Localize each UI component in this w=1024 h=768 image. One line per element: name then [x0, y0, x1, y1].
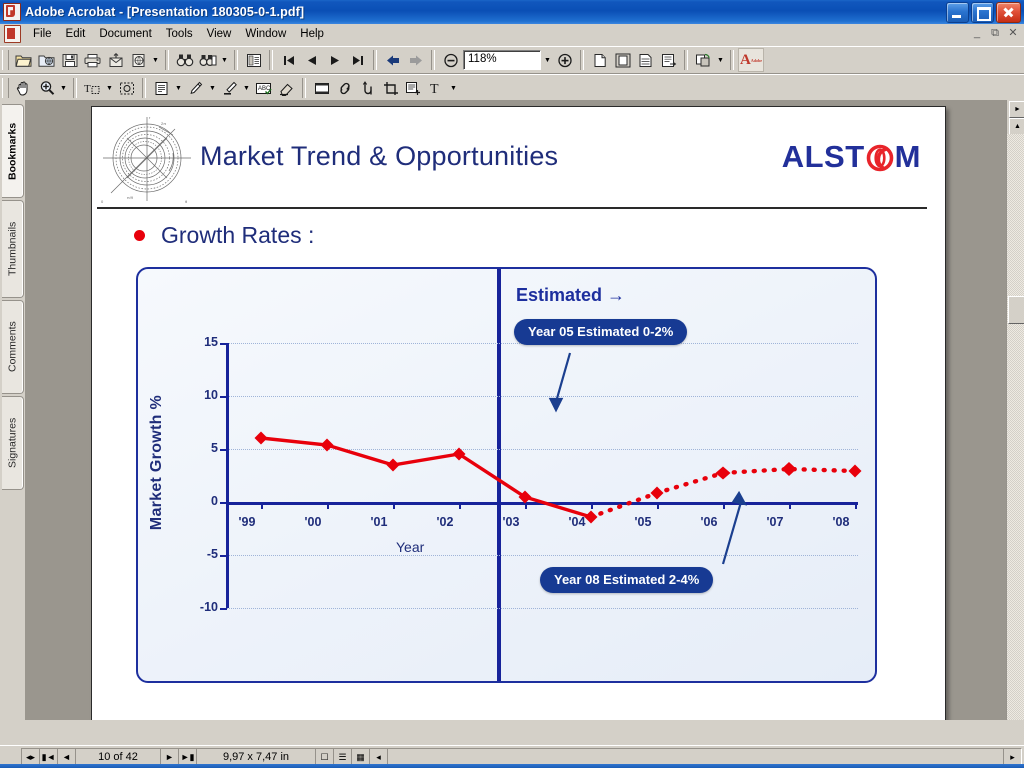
toolbar-separator [684, 50, 688, 70]
note-tool-button[interactable] [150, 77, 173, 99]
gridline-5 [226, 449, 858, 450]
sidebar-tab-signatures[interactable]: Signatures [2, 396, 24, 490]
save-button[interactable] [58, 49, 81, 71]
eraser-tool-button[interactable] [275, 77, 298, 99]
search-dropdown-icon[interactable]: ▼ [219, 49, 230, 71]
menu-item-window[interactable]: Window [238, 26, 293, 42]
zoom-in-button[interactable] [553, 49, 576, 71]
toolbar-separator [302, 78, 306, 98]
toolbar-separator [165, 50, 169, 70]
y-tick-label-10: 10 [204, 388, 218, 402]
adobe-logo-icon[interactable]: AAdobe [738, 48, 764, 72]
y-tick-label-5: 5 [211, 441, 218, 455]
zoom-tool-button[interactable] [35, 77, 58, 99]
movie-tool-button[interactable] [310, 77, 333, 99]
x-tick-label-08: '08 [833, 515, 850, 529]
x-tick-01 [393, 502, 395, 509]
print-button[interactable] [81, 49, 104, 71]
text-select-tool-button[interactable]: T [81, 77, 104, 99]
form-tool-button[interactable] [402, 77, 425, 99]
x-tick-04 [591, 502, 593, 509]
window-close-button[interactable] [996, 2, 1021, 23]
x-tick-label-99: '99 [239, 515, 256, 529]
growth-rates-chart: Estimated → Market Growth % [136, 267, 877, 683]
primary-toolbar: ▼ ▼ [0, 46, 1024, 74]
last-page-button[interactable] [346, 49, 369, 71]
show-hide-navigation-button[interactable] [242, 49, 265, 71]
zoom-level-input[interactable]: 118% [463, 50, 541, 70]
x-tick-05 [657, 502, 659, 509]
svg-text:2π: 2π [161, 121, 166, 126]
menu-item-file[interactable]: File [26, 26, 59, 42]
go-back-button[interactable] [381, 49, 404, 71]
link-tool-button[interactable] [333, 77, 356, 99]
x-tick-label-07: '07 [767, 515, 784, 529]
alstom-logo: ALSTM [782, 139, 921, 175]
next-page-button[interactable] [323, 49, 346, 71]
toolbar-grip[interactable] [2, 78, 9, 98]
bullet-dot-icon [134, 230, 145, 241]
hand-tool-button[interactable] [12, 77, 35, 99]
acrobat-window: Adobe Acrobat - [Presentation 180305-0-1… [0, 0, 1024, 768]
fit-width-button[interactable] [634, 49, 657, 71]
zoom-dropdown-icon[interactable]: ▼ [542, 49, 553, 71]
decorative-circles-diagram: 2π π/9 0 r θ [97, 113, 197, 205]
x-tick-08 [855, 502, 857, 509]
y-tick-15 [220, 343, 227, 345]
mdi-window-controls: _ ⧉ ✕ [970, 26, 1020, 40]
x-tick-06 [723, 502, 725, 509]
pencil-tool-button[interactable] [184, 77, 207, 99]
toolbar-separator [580, 50, 584, 70]
estimated-header-label: Estimated → [516, 285, 625, 306]
y-axis-title: Market Growth % [148, 395, 166, 530]
alstom-logo-swirl-icon [865, 141, 895, 173]
toolbar-grip[interactable] [2, 50, 9, 70]
scroll-up-button[interactable]: ▲ [1009, 118, 1024, 135]
window-minimize-button[interactable] [946, 2, 969, 23]
menu-bar: File Edit Document Tools View Window Hel… [0, 24, 1024, 45]
x-tick-label-05: '05 [635, 515, 652, 529]
y-axis-line [226, 343, 229, 608]
x-tick-label-01: '01 [371, 515, 388, 529]
pencil-dropdown-icon[interactable]: ▼ [207, 77, 218, 99]
email-button[interactable] [104, 49, 127, 71]
y-tick-minus10 [220, 608, 227, 610]
toolbar-separator [373, 50, 377, 70]
open-web-page-button[interactable] [35, 49, 58, 71]
svg-text:θ: θ [185, 199, 188, 204]
toolbar-separator [730, 50, 734, 70]
gridline-10 [226, 396, 858, 397]
window-title: Adobe Acrobat - [Presentation 180305-0-1… [25, 5, 304, 19]
x-tick-label-04: '04 [569, 515, 586, 529]
x-tick-00 [327, 502, 329, 509]
fit-page-button[interactable] [611, 49, 634, 71]
window-maximize-button[interactable] [971, 2, 994, 23]
status-bar-accent [0, 764, 1024, 768]
y-tick-label-15: 15 [204, 335, 218, 349]
note-dropdown-icon[interactable]: ▼ [173, 77, 184, 99]
previous-page-button[interactable] [300, 49, 323, 71]
header-divider [97, 207, 927, 209]
first-page-button[interactable] [277, 49, 300, 71]
touchup-dropdown-icon[interactable]: ▼ [448, 77, 459, 99]
document-icon[interactable] [4, 25, 21, 43]
menu-item-edit[interactable]: Edit [59, 26, 93, 42]
pdf-page: 2π π/9 0 r θ Market Trend & Opportunitie… [91, 106, 946, 720]
mdi-minimize-button[interactable]: _ [970, 26, 984, 40]
window-controls [946, 2, 1021, 23]
crop-tool-button[interactable] [379, 77, 402, 99]
x-tick-99 [261, 502, 263, 509]
reflow-button[interactable] [657, 49, 680, 71]
search-button[interactable] [196, 49, 219, 71]
rotate-view-button[interactable] [692, 49, 715, 71]
bullet-label: Growth Rates : [161, 222, 314, 249]
x-tick-07 [789, 502, 791, 509]
gridline-minus5 [226, 555, 858, 556]
x-tick-label-06: '06 [701, 515, 718, 529]
open-file-button[interactable] [12, 49, 35, 71]
alstom-logo-suffix: M [895, 139, 921, 175]
menu-item-tools[interactable]: Tools [159, 26, 200, 42]
actual-size-button[interactable] [588, 49, 611, 71]
svg-text:π/9: π/9 [127, 195, 134, 200]
search-pdf-button[interactable] [127, 49, 150, 71]
svg-text:T: T [430, 82, 439, 96]
zoom-tool-dropdown-icon[interactable]: ▼ [58, 77, 69, 99]
menu-item-document[interactable]: Document [92, 26, 158, 42]
document-view[interactable]: 2π π/9 0 r θ Market Trend & Opportunitie… [25, 100, 1007, 720]
svg-text:T: T [84, 83, 91, 95]
vertical-scroll-track[interactable] [1007, 134, 1024, 720]
x-tick-label-03: '03 [503, 515, 520, 529]
sidebar-tab-comments[interactable]: Comments [2, 300, 24, 394]
toolbar-separator [234, 50, 238, 70]
acrobat-app-icon [3, 3, 21, 21]
y-tick-label-minus10: -10 [200, 600, 218, 614]
y-tick-0 [220, 502, 227, 504]
menu-item-help[interactable]: Help [293, 26, 331, 42]
spell-check-button[interactable]: ABC [252, 77, 275, 99]
x-tick-02 [459, 502, 461, 509]
y-tick-label-minus5: -5 [207, 547, 218, 561]
search-pdf-dropdown-icon[interactable]: ▼ [150, 49, 161, 71]
y-tick-5 [220, 449, 227, 451]
toolbar-separator [73, 78, 77, 98]
vertical-scrollbar[interactable]: ► ▲ [1006, 100, 1024, 720]
mdi-close-button[interactable]: ✕ [1006, 26, 1020, 40]
sidebar-tab-bookmarks[interactable]: Bookmarks [2, 104, 24, 198]
article-tool-button[interactable] [356, 77, 379, 99]
y-tick-10 [220, 396, 227, 398]
zoom-out-button[interactable] [439, 49, 462, 71]
y-tick-label-0: 0 [211, 494, 218, 508]
x-tick-label-00: '00 [305, 515, 322, 529]
gridline-minus10 [226, 608, 858, 609]
y-tick-minus5 [220, 555, 227, 557]
vertical-scroll-thumb[interactable] [1008, 296, 1024, 324]
bullet-growth-rates: Growth Rates : [134, 222, 314, 249]
toolbar-separator [142, 78, 146, 98]
x-tick-03 [525, 502, 527, 509]
text-select-dropdown-icon[interactable]: ▼ [104, 77, 115, 99]
title-bar: Adobe Acrobat - [Presentation 180305-0-1… [0, 0, 1024, 24]
find-button[interactable] [173, 49, 196, 71]
highlight-dropdown-icon[interactable]: ▼ [241, 77, 252, 99]
snapshot-tool-button[interactable] [115, 77, 138, 99]
touchup-text-button[interactable]: T [425, 77, 448, 99]
callout-year-05: Year 05 Estimated 0-2% [514, 319, 687, 345]
highlight-tool-button[interactable] [218, 77, 241, 99]
go-forward-button[interactable] [404, 49, 427, 71]
callout-year-08: Year 08 Estimated 2-4% [540, 567, 713, 593]
x-axis-line [226, 502, 858, 505]
toolbar-separator [431, 50, 435, 70]
chart-plot-area: Market Growth % [226, 343, 858, 608]
navigation-tab-strip: Bookmarks Thumbnails Comments Signatures [0, 100, 26, 720]
menu-item-view[interactable]: View [200, 26, 239, 42]
rotate-dropdown-icon[interactable]: ▼ [715, 49, 726, 71]
svg-text:r: r [149, 115, 151, 120]
secondary-toolbar: ▼ T ▼ ▼ ▼ ▼ ABC [0, 74, 1024, 102]
alstom-logo-prefix: ALST [782, 139, 865, 175]
toolbar-separator [269, 50, 273, 70]
x-tick-label-02: '02 [437, 515, 454, 529]
mdi-restore-button[interactable]: ⧉ [988, 26, 1002, 40]
slide-title: Market Trend & Opportunities [200, 141, 558, 172]
svg-text:0: 0 [101, 199, 104, 204]
scroll-right-button[interactable]: ► [1009, 101, 1024, 118]
x-axis-title: Year [396, 539, 424, 555]
sidebar-tab-thumbnails[interactable]: Thumbnails [2, 200, 24, 298]
